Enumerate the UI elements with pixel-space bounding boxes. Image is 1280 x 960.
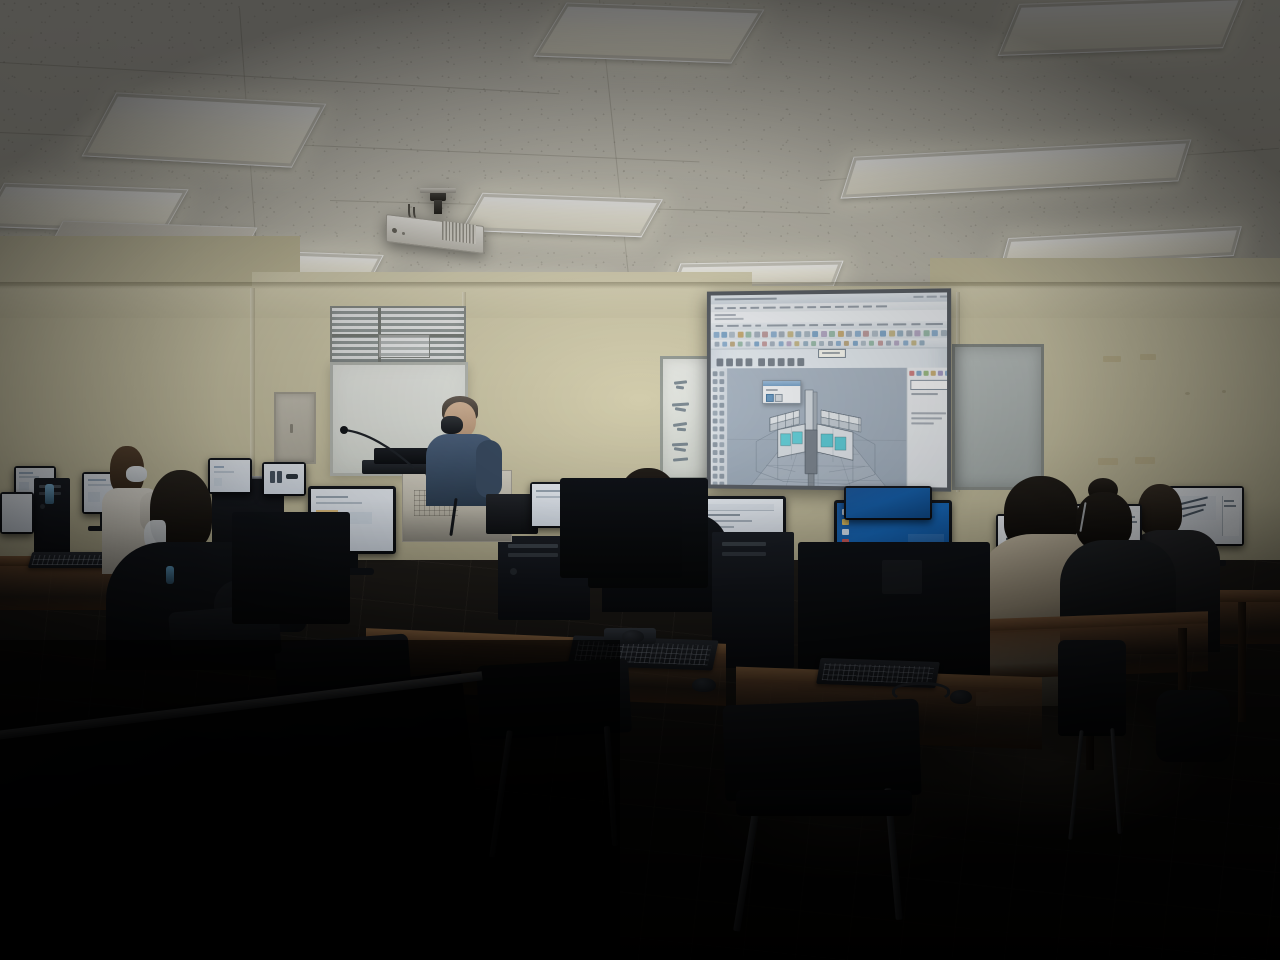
ceiling-light-back-left <box>82 92 327 167</box>
water-bottle <box>45 484 54 504</box>
wall-scuff <box>1185 392 1190 395</box>
chair-seat[interactable] <box>736 790 912 816</box>
wall-tape-mark <box>1135 457 1155 464</box>
cad-tooltip <box>818 349 846 358</box>
wall-upper-band <box>0 286 1280 320</box>
monitor-far-left-window <box>0 492 34 534</box>
face-mask <box>441 416 463 434</box>
cad-toolbar-icons-2[interactable] <box>711 338 947 349</box>
wall-access-panel <box>274 392 316 464</box>
cad-right-panel[interactable] <box>906 368 947 488</box>
mouse-center[interactable] <box>622 630 644 643</box>
clerestory-window <box>330 306 466 366</box>
cad-document-title <box>717 358 834 367</box>
ceiling-light-back-right <box>998 0 1245 56</box>
desktop-icon[interactable] <box>842 529 849 535</box>
cad-options-dialog[interactable] <box>762 380 801 404</box>
cad-panel-input[interactable] <box>910 380 947 390</box>
chair-foreground-3[interactable] <box>722 699 921 802</box>
monitor-logo <box>882 560 922 594</box>
instructor <box>424 396 502 506</box>
architectural-3d-model <box>727 368 906 488</box>
arm <box>476 440 502 498</box>
wall-tape-mark <box>1140 354 1156 360</box>
cad-viewport[interactable] <box>727 368 906 488</box>
chair-right[interactable] <box>1058 640 1126 736</box>
backpack <box>1156 690 1230 762</box>
ceiling-wall-junction <box>0 282 1280 289</box>
classroom-photo <box>0 0 1280 960</box>
wall-tape-mark <box>1103 356 1121 362</box>
wall-tape-mark <box>1098 458 1118 465</box>
ceiling-light-back-center <box>534 2 765 63</box>
mouse-center-right[interactable] <box>950 690 972 704</box>
glass-door-panel <box>952 344 1044 490</box>
projection-screen <box>707 288 951 491</box>
ceiling-light-mid-center <box>461 193 663 237</box>
monitor-windows-blue-2 <box>844 486 932 520</box>
wall-scuff <box>1222 390 1226 393</box>
desk-leg <box>1238 602 1246 722</box>
microphone-icon <box>340 424 420 474</box>
projector-icon <box>386 192 486 254</box>
mouse-center-2[interactable] <box>692 678 716 692</box>
monitor-podium-left-back <box>232 512 350 624</box>
water-bottle-2 <box>166 566 174 584</box>
monitor-podium-right-back <box>560 478 682 578</box>
